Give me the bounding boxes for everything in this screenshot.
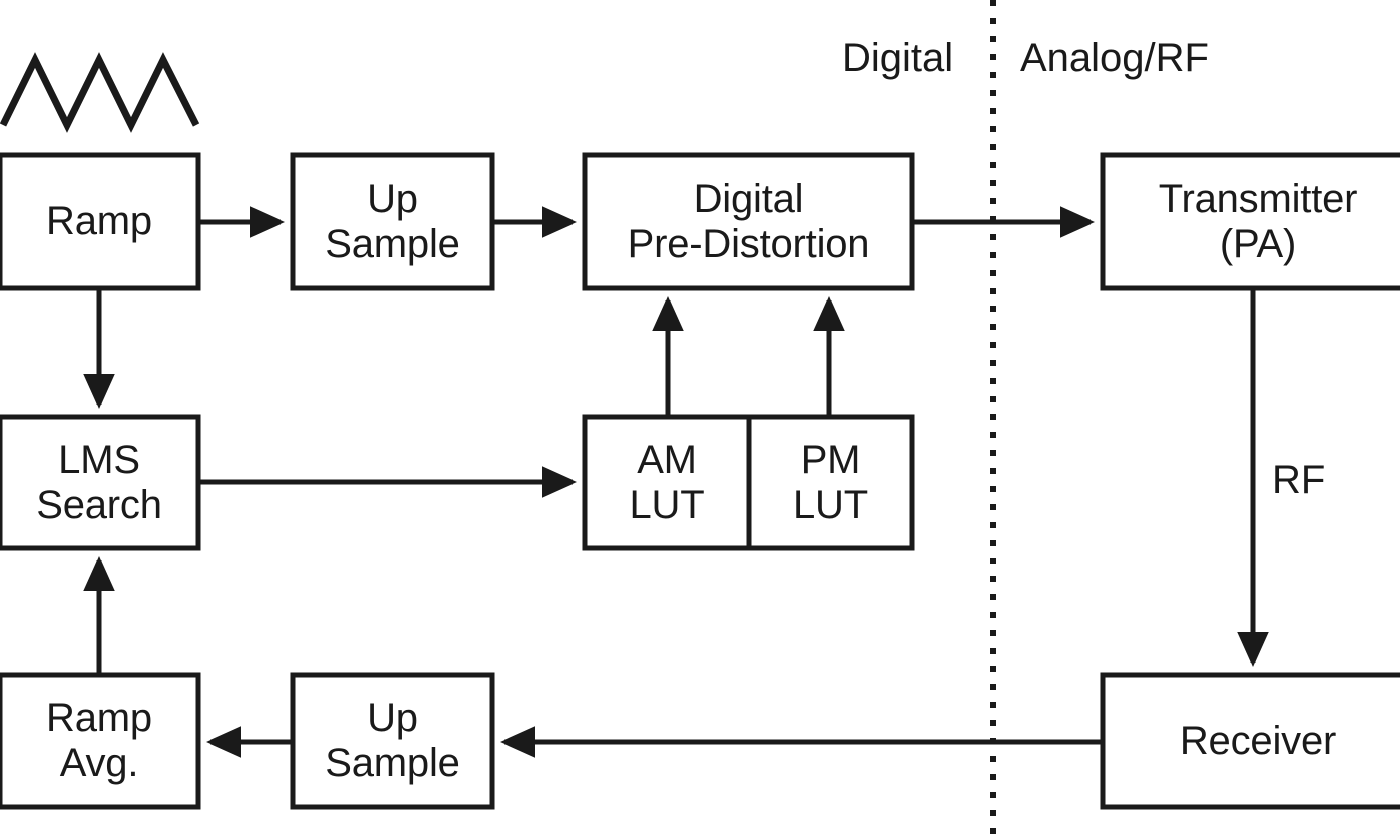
block-ramp[interactable]	[0, 155, 198, 288]
block-up-sample-1[interactable]	[293, 155, 492, 288]
block-transmitter[interactable]	[1103, 155, 1400, 288]
diagram-svg	[0, 0, 1400, 840]
block-digital-pre-distortion[interactable]	[585, 155, 912, 288]
region-label-analog-rf: Analog/RF	[1020, 38, 1209, 78]
diagram-canvas: Ramp Up Sample Digital Pre-Distortion Tr…	[0, 0, 1400, 840]
block-am-lut[interactable]	[585, 417, 749, 548]
region-label-digital: Digital	[842, 38, 953, 78]
block-up-sample-2[interactable]	[293, 675, 492, 807]
block-receiver[interactable]	[1103, 675, 1400, 807]
block-pm-lut[interactable]	[749, 417, 912, 548]
edge-label-rf: RF	[1272, 460, 1325, 500]
block-lms-search[interactable]	[0, 417, 198, 548]
ramp-waveform-icon	[3, 60, 196, 125]
block-ramp-avg[interactable]	[0, 675, 198, 807]
